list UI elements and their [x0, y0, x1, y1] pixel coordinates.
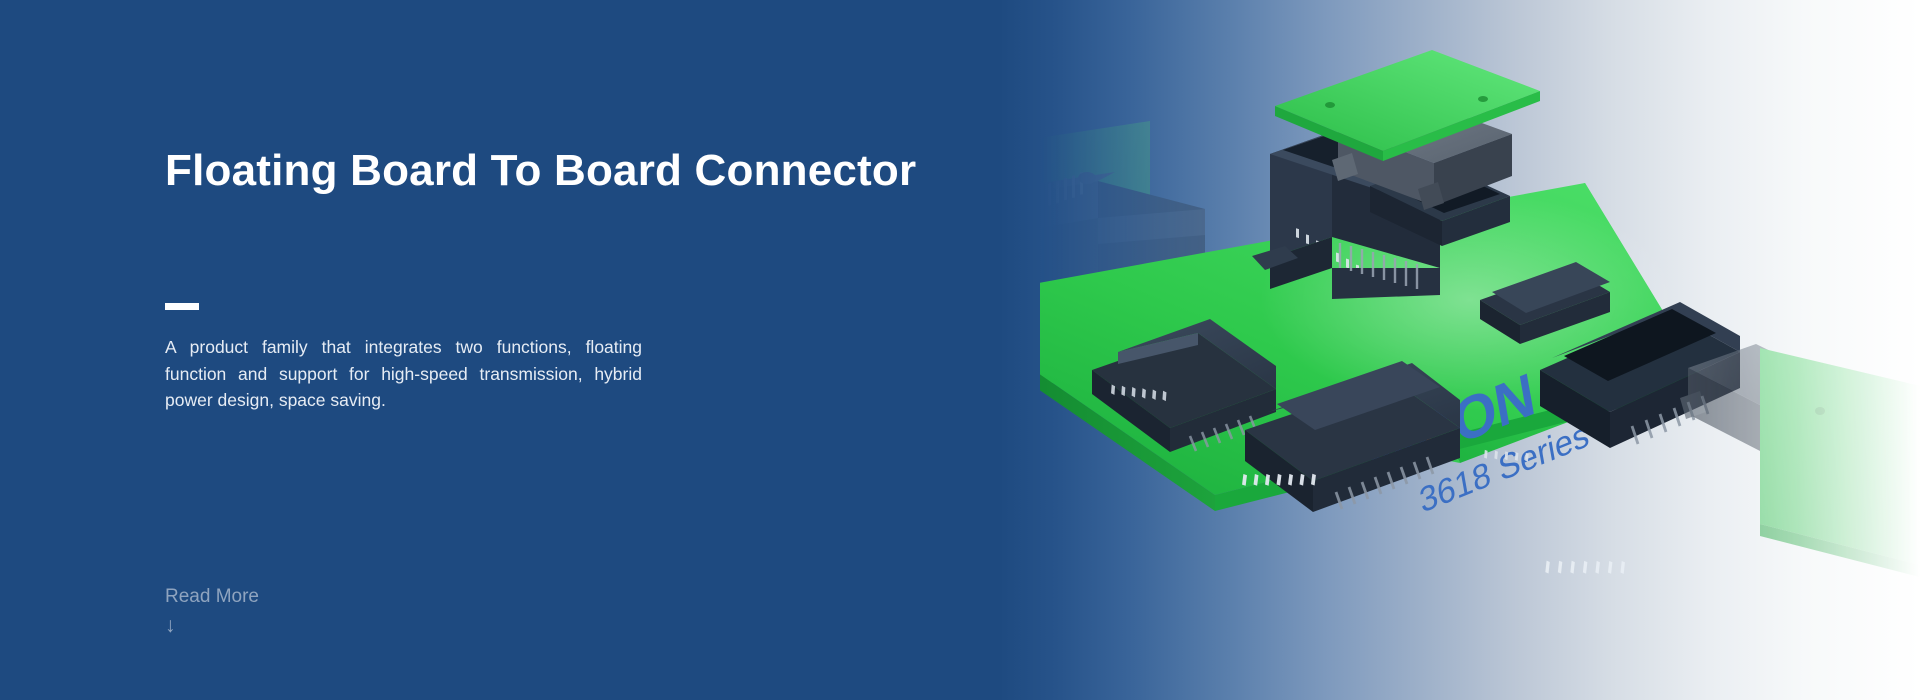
page-title: Floating Board To Board Connector	[165, 148, 725, 194]
hero-banner: WCON 3618 Series	[0, 0, 1920, 700]
read-more-link[interactable]: Read More ↓	[165, 584, 259, 640]
product-render-illustration: WCON 3618 Series	[1040, 0, 1920, 700]
arrow-down-icon: ↓	[165, 612, 259, 640]
description-text: A product family that integrates two fun…	[165, 334, 642, 414]
read-more-label: Read More	[165, 586, 259, 607]
title-divider	[165, 303, 199, 310]
copy-block: Floating Board To Board Connector A prod…	[165, 148, 725, 414]
